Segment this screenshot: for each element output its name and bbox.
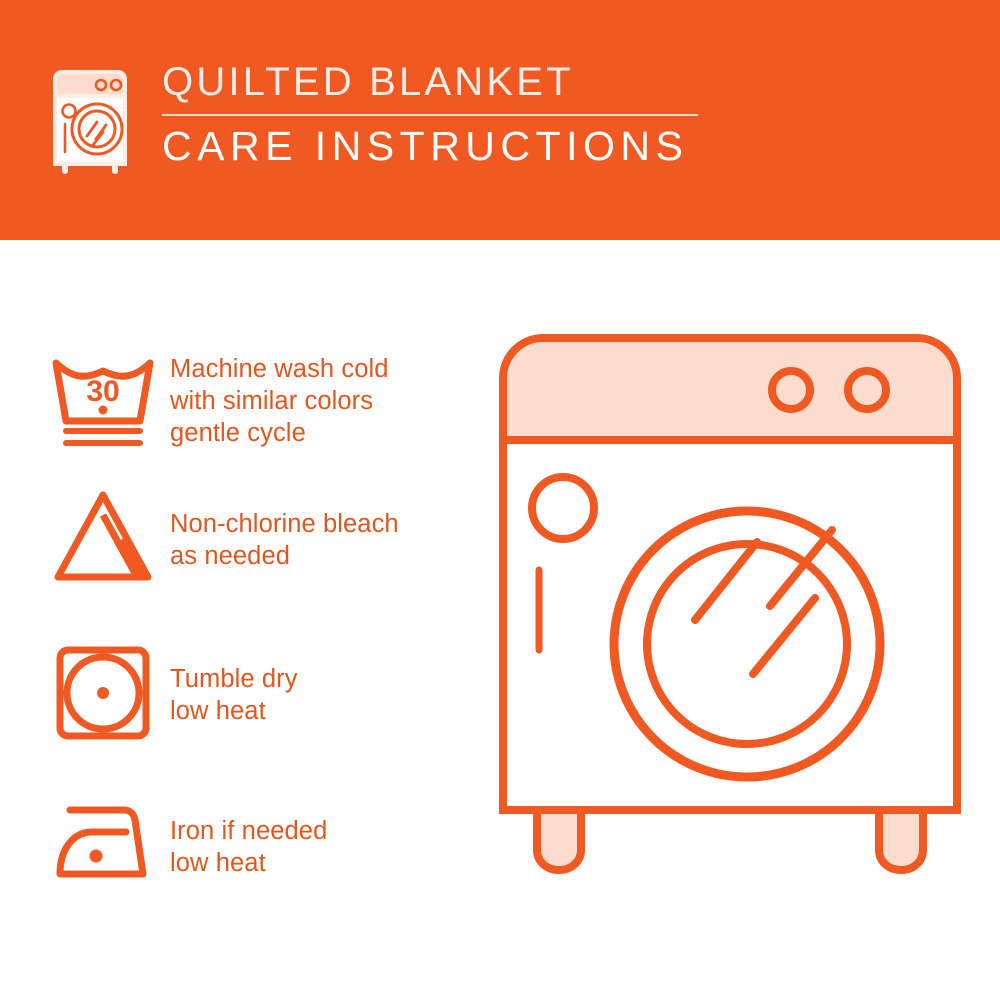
care-item-machine-wash: 30 Machine wash cold with similar colors… <box>48 345 478 455</box>
wash-temperature-label: 30 <box>86 375 119 408</box>
foot-left <box>537 810 581 870</box>
care-item-label: Iron if needed low heat <box>170 788 327 879</box>
front-load-washing-machine-illustration <box>495 330 965 930</box>
washing-machine-icon <box>44 66 140 178</box>
wash-tub-30-gentle-icon: 30 <box>48 345 158 455</box>
page-title-secondary: CARE INSTRUCTIONS <box>162 126 698 167</box>
foot-right <box>879 810 923 870</box>
care-item-label: Machine wash cold with similar colors ge… <box>170 345 389 449</box>
header-banner: QUILTED BLANKET CARE INSTRUCTIONS <box>0 0 1000 240</box>
page-title-primary: QUILTED BLANKET <box>162 62 698 112</box>
header-title-group: QUILTED BLANKET CARE INSTRUCTIONS <box>162 62 698 167</box>
care-instructions-list: 30 Machine wash cold with similar colors… <box>0 240 480 1000</box>
iron-low-heat-icon <box>48 788 158 898</box>
care-item-tumble-dry: Tumble dry low heat <box>48 638 478 748</box>
header-content: QUILTED BLANKET CARE INSTRUCTIONS <box>44 62 698 178</box>
care-item-label: Tumble dry low heat <box>170 638 298 727</box>
care-item-label: Non-chlorine bleach as needed <box>170 483 399 572</box>
bleach-triangle-non-chlorine-icon <box>48 483 158 593</box>
care-item-iron: Iron if needed low heat <box>48 788 478 898</box>
machine-body <box>503 440 957 810</box>
title-divider <box>162 114 698 116</box>
care-item-bleach: Non-chlorine bleach as needed <box>48 483 478 593</box>
tumble-dry-low-heat-icon <box>48 638 158 748</box>
